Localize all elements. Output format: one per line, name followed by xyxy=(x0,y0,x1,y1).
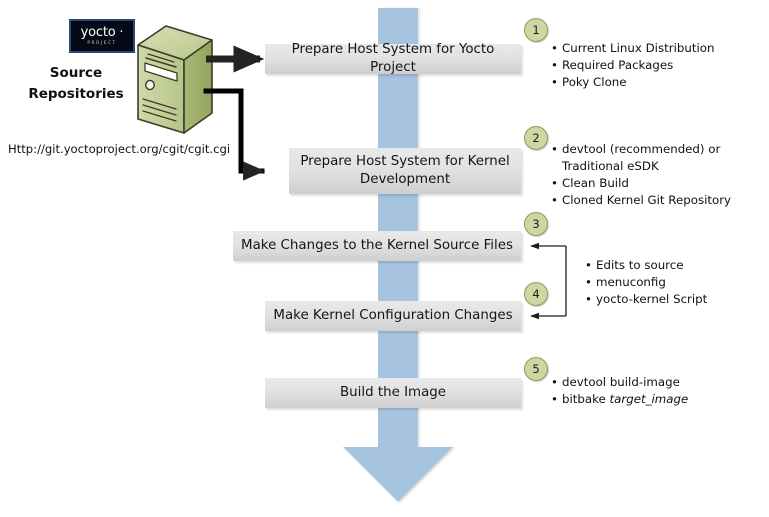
list-item: Clean Build xyxy=(562,175,758,192)
list-item: Edits to source xyxy=(596,257,757,274)
flow-arrow-down-icon xyxy=(343,447,453,502)
list-item: yocto-kernel Script xyxy=(596,291,757,308)
process-box-step-1[interactable]: Prepare Host System for Yocto Project xyxy=(265,44,521,74)
step-number: 1 xyxy=(532,23,539,37)
list-item: bitbake target_image xyxy=(562,391,748,408)
step-badge-2: 2 xyxy=(524,126,548,150)
step-number: 3 xyxy=(532,217,539,231)
process-box-step-4[interactable]: Make Kernel Configuration Changes xyxy=(265,301,521,331)
step-number: 2 xyxy=(532,131,539,145)
source-repositories-url: Http://git.yoctoproject.org/cgit/cgit.cg… xyxy=(8,142,230,156)
step-number: 4 xyxy=(532,287,539,301)
step-badge-4: 4 xyxy=(524,282,548,306)
steps-3-4-shared-bullets: Edits to source menuconfig yocto-kernel … xyxy=(582,257,757,308)
step-badge-1: 1 xyxy=(524,18,548,42)
step-5-bullets: devtool build-image bitbake target_image xyxy=(548,374,748,408)
process-box-label: Prepare Host System for Yocto Project xyxy=(273,41,513,77)
process-box-step-2[interactable]: Prepare Host System for Kernel Developme… xyxy=(289,148,521,194)
process-box-label: Make Kernel Configuration Changes xyxy=(273,307,512,325)
server-icon xyxy=(132,23,214,137)
step-badge-3: 3 xyxy=(524,212,548,236)
source-repositories-label: Source Repositories xyxy=(16,63,136,105)
list-item: devtool (recommended) or Traditional eSD… xyxy=(562,141,758,175)
process-box-step-3[interactable]: Make Changes to the Kernel Source Files xyxy=(233,231,521,261)
process-box-label: Build the Image xyxy=(340,384,446,402)
logo-subtitle: PROJECT xyxy=(87,41,116,45)
process-box-step-5[interactable]: Build the Image xyxy=(265,378,521,408)
bitbake-command-prefix: bitbake xyxy=(562,392,610,406)
list-item: Required Packages xyxy=(562,57,763,74)
list-item: menuconfig xyxy=(596,274,757,291)
bitbake-target-italic: target_image xyxy=(610,392,689,406)
list-item: Cloned Kernel Git Repository xyxy=(562,192,758,209)
process-box-label: Prepare Host System for Kernel Developme… xyxy=(297,153,513,189)
step-badge-5: 5 xyxy=(524,357,548,381)
list-item: devtool build-image xyxy=(562,374,748,391)
list-item: Current Linux Distribution xyxy=(562,40,763,57)
logo-wordmark: yocto · xyxy=(81,26,124,39)
step-1-bullets: Current Linux Distribution Required Pack… xyxy=(548,40,763,91)
diagram-canvas: yocto · PROJECT Source Repositories Http… xyxy=(0,0,769,517)
step-number: 5 xyxy=(532,362,539,376)
list-item: Poky Clone xyxy=(562,74,763,91)
step-2-bullets: devtool (recommended) or Traditional eSD… xyxy=(548,141,758,208)
process-box-label: Make Changes to the Kernel Source Files xyxy=(241,237,513,255)
yocto-project-logo: yocto · PROJECT xyxy=(69,19,135,53)
